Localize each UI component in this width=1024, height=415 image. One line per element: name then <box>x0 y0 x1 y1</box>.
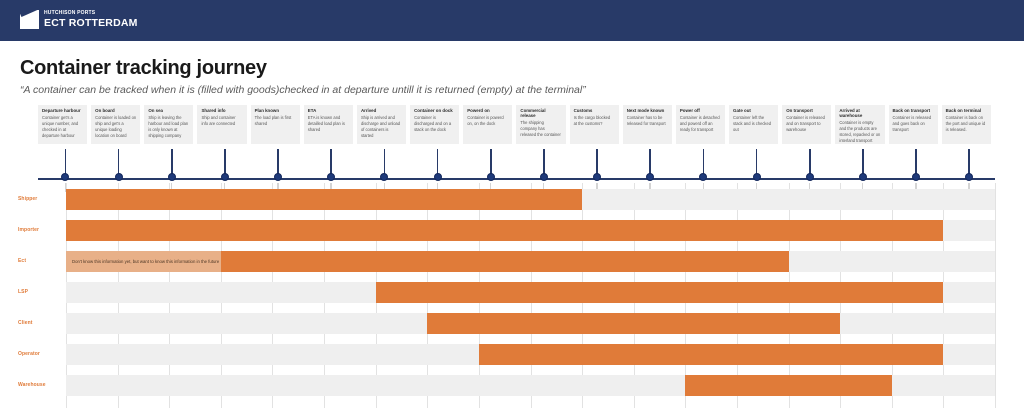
container-journey-chart: Departure harbourContainer get's a uniqu… <box>0 105 1024 415</box>
timeline-milestone-dot[interactable] <box>699 173 707 181</box>
milestone-description: Container is empty and the products are … <box>839 120 880 144</box>
milestone-card[interactable]: Shared infoShip and container info are c… <box>197 105 246 144</box>
milestone-description: Ship is arrived and discharge and unload… <box>361 115 402 139</box>
milestone-description: The load plan is first shared <box>255 115 296 127</box>
gantt-row-label: LSP <box>18 289 68 295</box>
hutchison-ports-mark-icon <box>20 10 39 29</box>
milestone-description: Container is released and on transport t… <box>786 115 827 133</box>
brand-name-primary: HUTCHISON PORTS <box>44 11 138 16</box>
milestone-title: Plan known <box>255 108 296 113</box>
gantt-bar[interactable] <box>479 344 944 365</box>
milestone-description: The shipping company has released the co… <box>520 120 561 138</box>
gantt-bar[interactable] <box>685 375 891 396</box>
milestone-description: Ship is leaving the harbour and load pla… <box>148 115 189 139</box>
timeline-milestone-dot[interactable] <box>540 173 548 181</box>
milestone-card-list: Departure harbourContainer get's a uniqu… <box>38 105 1018 145</box>
milestone-title: Shared info <box>201 108 242 113</box>
timeline-milestone-dot[interactable] <box>646 173 654 181</box>
timeline-milestone-dot[interactable] <box>593 173 601 181</box>
milestone-description: Container is detached and powerd off an … <box>680 115 721 133</box>
milestone-title: Customs <box>574 108 615 113</box>
milestone-title: Next mode known <box>627 108 668 113</box>
timeline-axis <box>38 178 995 180</box>
timeline-milestone-dot[interactable] <box>487 173 495 181</box>
gantt-bar[interactable] <box>427 313 840 334</box>
milestone-title: Back on transport <box>893 108 934 113</box>
gantt-row-label: Operator <box>18 351 68 357</box>
milestone-title: Container on dock <box>414 108 455 113</box>
milestone-description: Container is discharged and on a stack o… <box>414 115 455 133</box>
milestone-title: Back on terminal <box>946 108 987 113</box>
milestone-description: Container left the stack and is checked … <box>733 115 774 133</box>
milestone-card[interactable]: Commercial releaseThe shipping company h… <box>516 105 565 144</box>
milestone-description: Is the cargo blocked at the customs? <box>574 115 615 127</box>
gantt-bar[interactable] <box>221 251 789 272</box>
timeline-milestone-dot[interactable] <box>115 173 123 181</box>
milestone-description: Container is released and goes back on t… <box>893 115 934 133</box>
app-header-bar: HUTCHISON PORTS ECT ROTTERDAM <box>0 0 1024 41</box>
gantt-bar[interactable] <box>66 220 943 241</box>
timeline-milestone-dot[interactable] <box>912 173 920 181</box>
milestone-title: On board <box>95 108 136 113</box>
timeline-milestone-dot[interactable] <box>61 173 69 181</box>
milestone-title: On sea <box>148 108 189 113</box>
page-title: Container tracking journey <box>20 57 267 80</box>
milestone-description: Container is powerd on, on the dock <box>467 115 508 127</box>
milestone-description: Container has to be released for transpo… <box>627 115 668 127</box>
milestone-title: Commercial release <box>520 108 561 118</box>
milestone-card[interactable]: Arrived at warehouseContainer is empty a… <box>835 105 884 144</box>
milestone-card[interactable]: Back on transportContainer is released a… <box>889 105 938 144</box>
milestone-card[interactable]: Power offContainer is detached and power… <box>676 105 725 144</box>
timeline-milestone-dot[interactable] <box>434 173 442 181</box>
milestone-title: On transport <box>786 108 827 113</box>
milestone-card[interactable]: Departure harbourContainer get's a uniqu… <box>38 105 87 144</box>
milestone-card[interactable]: Powerd onContainer is powerd on, on the … <box>463 105 512 144</box>
milestone-description: Ship and container info are connected <box>201 115 242 127</box>
gantt-row-label: Importer <box>18 227 68 233</box>
milestone-card[interactable]: ETAETA is known and detailled load plan … <box>304 105 353 144</box>
gantt-bar-note: Don't know this information yet, but wan… <box>72 259 219 264</box>
timeline-milestone-dot[interactable] <box>380 173 388 181</box>
milestone-title: Arrived <box>361 108 402 113</box>
timeline-milestone-dot[interactable] <box>859 173 867 181</box>
timeline-milestone-dot[interactable] <box>753 173 761 181</box>
milestone-title: Departure harbour <box>42 108 83 113</box>
gantt-row-label: Client <box>18 320 68 326</box>
milestone-card[interactable]: Back on terminalContainer is back on the… <box>942 105 991 144</box>
page-subtitle: “A container can be tracked when it is (… <box>20 84 586 96</box>
milestone-title: Power off <box>680 108 721 113</box>
gantt-row-label: Ect <box>18 258 68 264</box>
milestone-card[interactable]: On transportContainer is released and on… <box>782 105 831 144</box>
grid-column-line <box>995 183 996 408</box>
milestone-card[interactable]: On boardContainer is loaded on ship and … <box>91 105 140 144</box>
brand-name-secondary: ECT ROTTERDAM <box>44 18 138 29</box>
milestone-title: ETA <box>308 108 349 113</box>
timeline-milestone-dot[interactable] <box>965 173 973 181</box>
milestone-card[interactable]: Gate outContainer left the stack and is … <box>729 105 778 144</box>
timeline-milestone-dot[interactable] <box>806 173 814 181</box>
journey-timeline <box>0 145 1024 183</box>
milestone-card[interactable]: CustomsIs the cargo blocked at the custo… <box>570 105 619 144</box>
gantt-bar[interactable] <box>66 189 582 210</box>
gantt-row-label: Warehouse <box>18 382 68 388</box>
milestone-title: Gate out <box>733 108 774 113</box>
timeline-milestone-dot[interactable] <box>327 173 335 181</box>
milestone-description: ETA is known and detailled load plan is … <box>308 115 349 133</box>
milestone-card[interactable]: ArrivedShip is arrived and discharge and… <box>357 105 406 144</box>
milestone-card[interactable]: Next mode knownContainer has to be relea… <box>623 105 672 144</box>
gantt-row-label: Shipper <box>18 196 68 202</box>
milestone-title: Powerd on <box>467 108 508 113</box>
milestone-description: Container is back on the port and unique… <box>946 115 987 133</box>
milestone-card[interactable]: Plan knownThe load plan is first shared <box>251 105 300 144</box>
timeline-milestone-dot[interactable] <box>274 173 282 181</box>
timeline-milestone-dot[interactable] <box>168 173 176 181</box>
brand-logo-text: HUTCHISON PORTS ECT ROTTERDAM <box>44 10 138 29</box>
gantt-bar-pending[interactable]: Don't know this information yet, but wan… <box>66 251 221 272</box>
gantt-grid: ShipperImporterEctDon't know this inform… <box>0 183 1024 413</box>
milestone-description: Container get's a unique number, and che… <box>42 115 83 139</box>
milestone-description: Container is loaded on ship and get's a … <box>95 115 136 139</box>
timeline-milestone-dot[interactable] <box>221 173 229 181</box>
brand-logo: HUTCHISON PORTS ECT ROTTERDAM <box>20 10 138 29</box>
gantt-bar[interactable] <box>376 282 944 303</box>
milestone-card[interactable]: Container on dockContainer is discharged… <box>410 105 459 144</box>
milestone-title: Arrived at warehouse <box>839 108 880 118</box>
milestone-card[interactable]: On seaShip is leaving the harbour and lo… <box>144 105 193 144</box>
